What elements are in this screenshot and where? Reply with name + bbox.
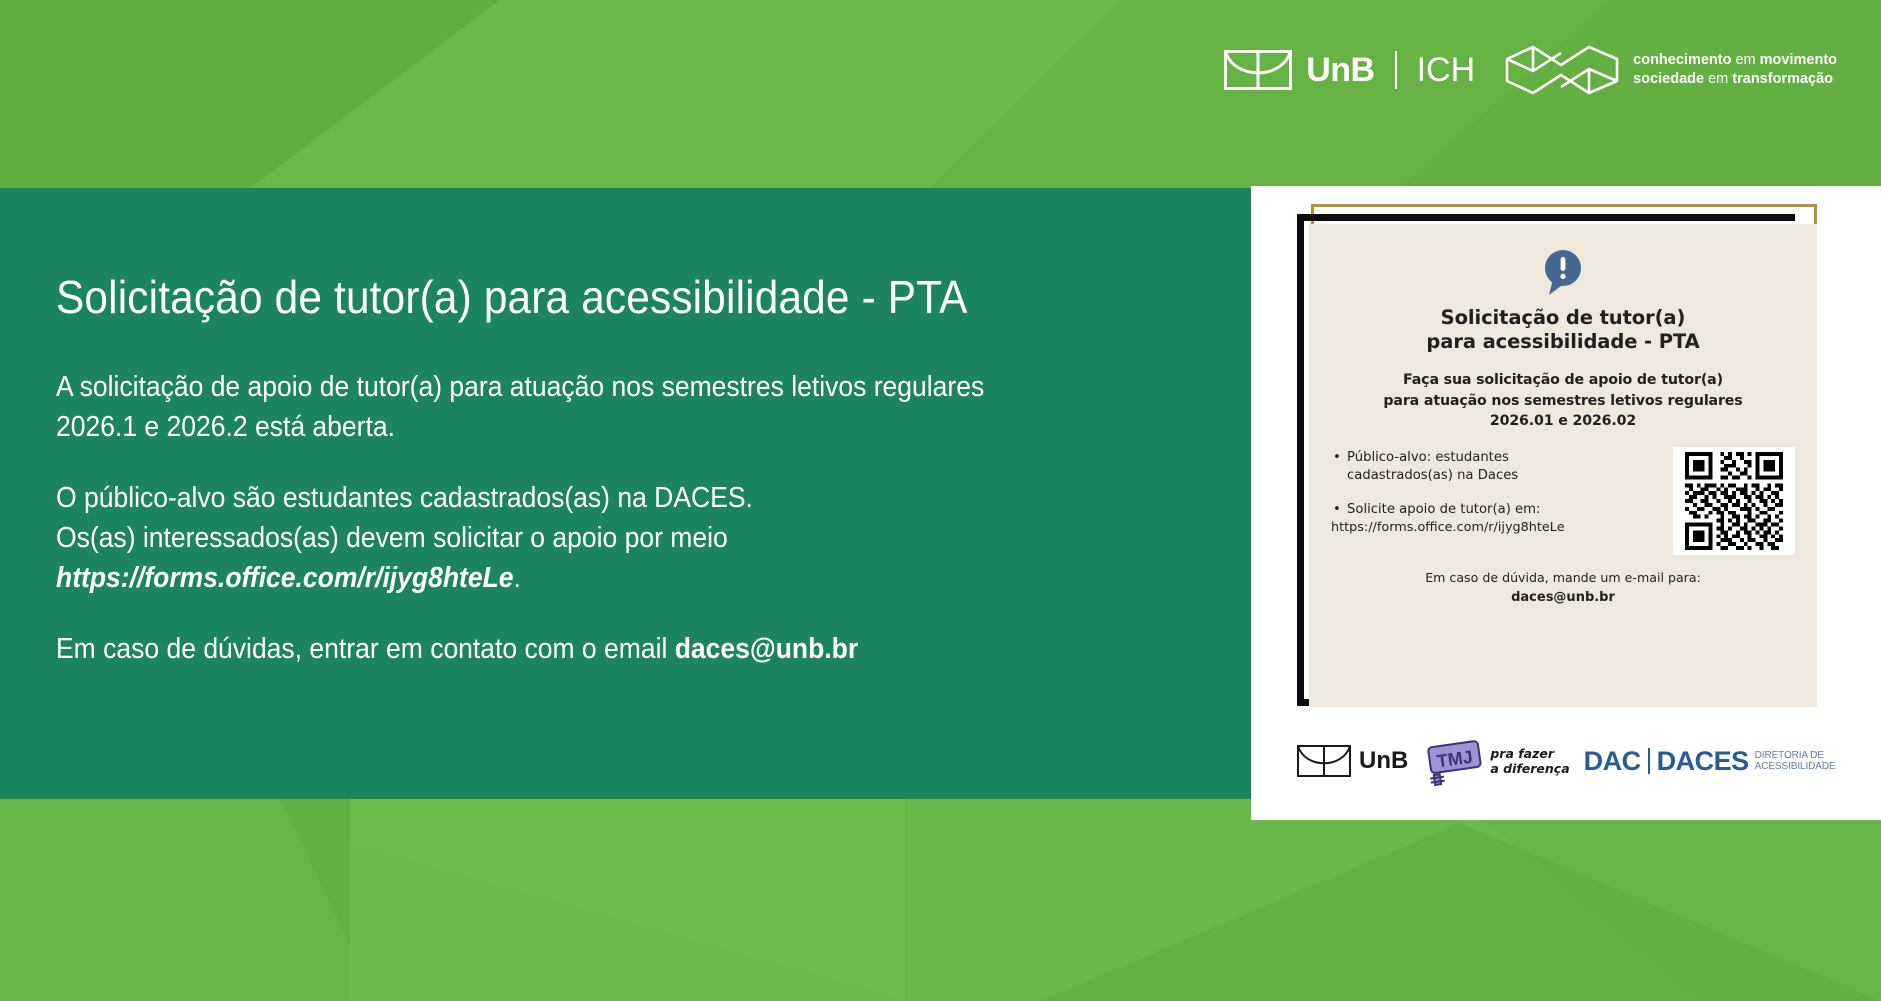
paragraph-opening: A solicitação de apoio de tutor(a) para … (56, 367, 986, 448)
header-logo-row: UnB ICH conhecimento em movimento socied… (1224, 44, 1837, 96)
contact-email-link[interactable]: daces@unb.br (675, 633, 858, 665)
header-logo-divider (1395, 51, 1397, 89)
poster-title: Solicitação de tutor(a) para acessibilid… (1331, 306, 1795, 354)
poster-subtitle-line1: Faça sua solicitação de apoio de tutor(a… (1331, 370, 1795, 390)
header-slogan: conhecimento em movimento sociedade em t… (1633, 51, 1837, 88)
poster-bullet-request: Solicite apoio de tutor(a) em: https://f… (1331, 501, 1665, 536)
poster-subtitle-line3: 2026.01 e 2026.02 (1331, 411, 1795, 431)
poster-bullet-request-line1: Solicite apoio de tutor(a) em: (1347, 502, 1540, 517)
poster-footer-unb-label: UnB (1359, 749, 1408, 773)
poster-frame-group: Solicitação de tutor(a) para acessibilid… (1297, 204, 1817, 709)
tmj-tagline-line1: pra fazer (1490, 746, 1569, 761)
unb-logo-icon (1297, 745, 1351, 777)
poster-footer-logos: UnB TMJ pra fazer a diferença DAC DACES (1297, 734, 1837, 788)
forms-link-period: . (514, 562, 521, 594)
unb-logo-icon (1224, 50, 1292, 90)
slogan-connector-1: em (1731, 52, 1759, 68)
qr-code[interactable] (1673, 447, 1795, 555)
poster-contact-block: Em caso de dúvida, mande um e-mail para:… (1331, 569, 1795, 607)
slogan-connector-2: em (1704, 71, 1732, 87)
poster-bullet-audience-line2: cadastrados(as) na Daces (1347, 468, 1518, 483)
poster-bullet-list: Público-alvo: estudantes cadastrados(as)… (1331, 445, 1665, 552)
slogan-word-movimento: movimento (1760, 52, 1837, 68)
tmj-tagline-line2: a diferença (1490, 761, 1569, 776)
slogan-word-sociedade: sociedade (1633, 71, 1704, 87)
unb-ribbon-icon (1503, 45, 1621, 95)
paragraph-opening-line2: 2026.1 e 2026.2 está aberta. (56, 411, 395, 443)
poster-title-line1: Solicitação de tutor(a) (1331, 306, 1795, 330)
daces-subtitle-line2: ACESSIBILIDADE (1755, 761, 1836, 773)
daces-label: DACES (1657, 748, 1749, 775)
exclamation-speech-bubble-icon (1541, 248, 1585, 298)
tmj-logo-icon: TMJ (1424, 736, 1486, 786)
dac-daces-logo: DAC DACES (1584, 748, 1749, 775)
paragraph-contact: Em caso de dúvidas, entrar em contato co… (56, 629, 986, 669)
poster-contact-line: Em caso de dúvida, mande um e-mail para: (1331, 569, 1795, 588)
daces-subtitle: DIRETORIA DE ACESSIBILIDADE (1755, 750, 1836, 773)
poster-subtitle: Faça sua solicitação de apoio de tutor(a… (1331, 370, 1795, 430)
poster-sheet: Solicitação de tutor(a) para acessibilid… (1309, 224, 1817, 707)
poster-title-line2: para acessibilidade - PTA (1331, 330, 1795, 354)
main-text-block: Solicitação de tutor(a) para acessibilid… (56, 272, 1056, 669)
paragraph-audience-line2: Os(as) interessados(as) devem solicitar … (56, 522, 728, 554)
dac-label: DAC (1584, 748, 1641, 775)
forms-link[interactable]: https://forms.office.com/r/ijyg8hteLe (56, 562, 514, 594)
poster-subtitle-line2: para atuação nos semestres letivos regul… (1331, 391, 1795, 411)
slogan-word-transformacao: transformação (1732, 71, 1833, 87)
poster-forms-link[interactable]: https://forms.office.com/r/ijyg8hteLe (1331, 519, 1665, 536)
poster-bullet-audience: Público-alvo: estudantes cadastrados(as)… (1331, 449, 1665, 485)
paragraph-audience-line1: O público-alvo são estudantes cadastrado… (56, 482, 753, 514)
paragraph-audience: O público-alvo são estudantes cadastrado… (56, 478, 986, 599)
poster-contact-email[interactable]: daces@unb.br (1331, 588, 1795, 608)
poster-bullet-audience-line1: Público-alvo: estudantes (1347, 450, 1509, 465)
paragraph-opening-line1: A solicitação de apoio de tutor(a) para … (56, 371, 984, 403)
daces-subtitle-line1: DIRETORIA DE (1755, 750, 1836, 762)
poster-card: Solicitação de tutor(a) para acessibilid… (1251, 186, 1881, 820)
slogan-word-conhecimento: conhecimento (1633, 52, 1731, 68)
header-ich-label: ICH (1417, 53, 1476, 87)
poster-body-row: Público-alvo: estudantes cadastrados(as)… (1331, 445, 1795, 555)
paragraph-contact-prefix: Em caso de dúvidas, entrar em contato co… (56, 633, 675, 665)
header-unb-label: UnB (1306, 53, 1374, 87)
dac-daces-divider (1648, 748, 1650, 774)
banner-stage: UnB ICH conhecimento em movimento socied… (0, 0, 1881, 1001)
tmj-tagline: pra fazer a diferença (1490, 746, 1569, 777)
page-title: Solicitação de tutor(a) para acessibilid… (56, 272, 976, 323)
